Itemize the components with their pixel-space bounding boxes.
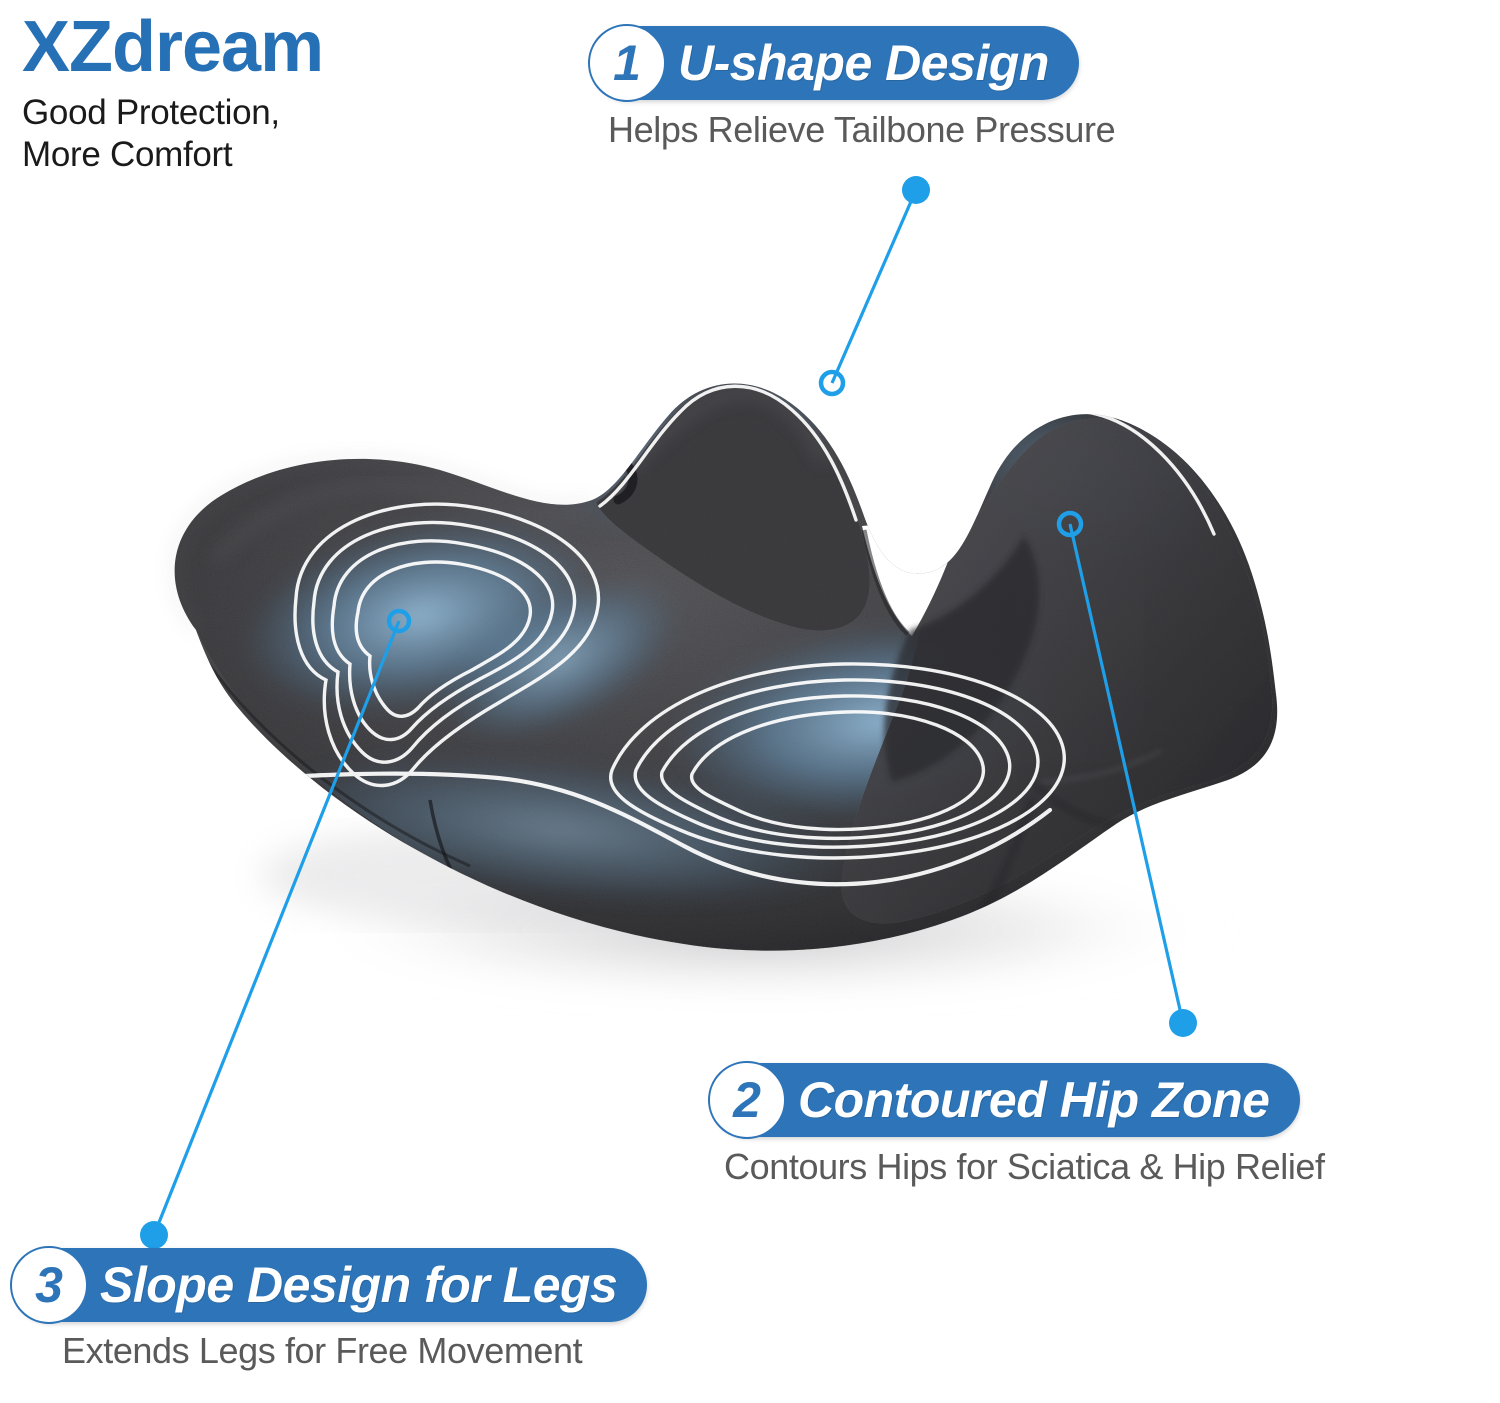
brand-tagline-line2: More Comfort [22, 134, 492, 176]
callout-3-title: Slope Design for Legs [14, 1248, 647, 1322]
callout-1-number: 1 [588, 24, 666, 102]
callout-3: 3 Slope Design for Legs Extends Legs for… [14, 1248, 647, 1376]
callout-1-subtitle: Helps Relieve Tailbone Pressure [608, 105, 1115, 155]
leader-dot-1 [902, 176, 930, 204]
leader-dot-3 [140, 1221, 168, 1249]
callout-2: 2 Contoured Hip Zone Contours Hips for S… [712, 1063, 1325, 1192]
callout-2-subtitle: Contours Hips for Sciatica & Hip Relief [724, 1142, 1325, 1192]
callout-2-title: Contoured Hip Zone [712, 1063, 1300, 1137]
brand-block: XZdream Good Protection, More Comfort [22, 6, 492, 176]
brand-tagline: Good Protection, More Comfort [22, 92, 492, 176]
brand-name: XZdream [22, 6, 492, 88]
callout-2-pill: 2 Contoured Hip Zone [712, 1063, 1300, 1137]
brand-tagline-line1: Good Protection, [22, 92, 492, 134]
callout-1: 1 U-shape Design Helps Relieve Tailbone … [592, 26, 1115, 155]
product-image [0, 330, 1500, 1030]
callout-3-number: 3 [10, 1246, 88, 1324]
callout-3-subtitle: Extends Legs for Free Movement [62, 1326, 647, 1376]
callout-3-pill: 3 Slope Design for Legs [14, 1248, 647, 1322]
callout-2-number: 2 [708, 1061, 786, 1139]
callout-1-pill: 1 U-shape Design [592, 26, 1079, 100]
infographic-canvas: XZdream Good Protection, More Comfort 1 … [0, 0, 1500, 1403]
